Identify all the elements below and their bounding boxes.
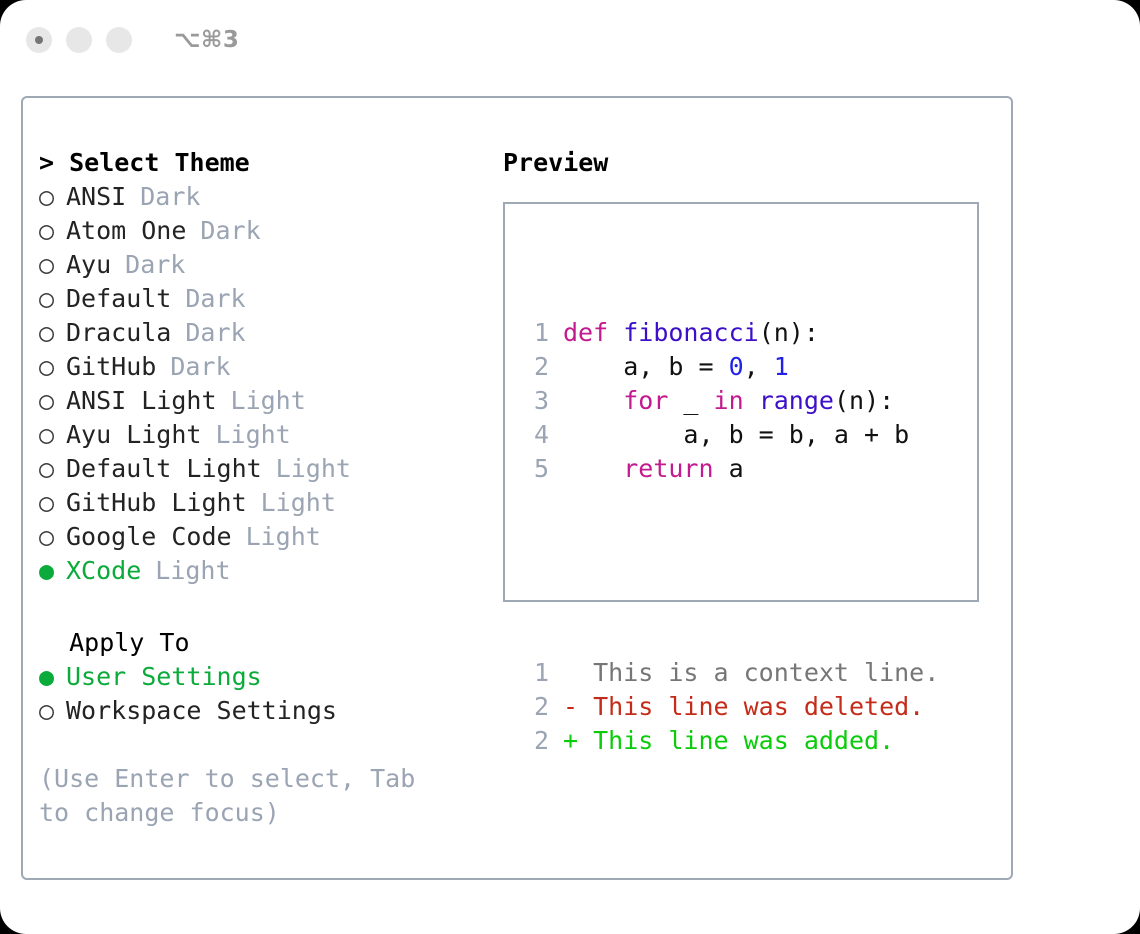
app-window: ⌥⌘3 > Select Theme ○ANSIDark○Atom OneDar… — [0, 0, 1140, 934]
code-line: 1def fibonacci(n): — [519, 316, 939, 350]
radio-unselected-icon: ○ — [39, 282, 66, 316]
line-number: 2 — [519, 690, 549, 724]
theme-variant-badge: Dark — [185, 282, 245, 316]
code-token-fn: range — [759, 386, 834, 415]
radio-unselected-icon: ○ — [39, 694, 66, 728]
code-token-plain: (n): — [834, 386, 894, 415]
keyboard-hint: (Use Enter to select, Tab to change focu… — [39, 762, 439, 830]
line-number: 2 — [519, 350, 549, 384]
radio-unselected-icon: ○ — [39, 180, 66, 214]
theme-variant-badge: Light — [246, 520, 321, 554]
theme-option-default-light[interactable]: ○Default LightLight — [39, 452, 489, 486]
theme-option-label: Default Light — [66, 452, 262, 486]
keyboard-shortcut-label: ⌥⌘3 — [174, 27, 239, 53]
theme-variant-badge: Light — [231, 384, 306, 418]
theme-option-google-code[interactable]: ○Google CodeLight — [39, 520, 489, 554]
radio-unselected-icon: ○ — [39, 384, 66, 418]
diff-marker: + — [563, 724, 593, 758]
diff-line-text: This line was deleted. — [593, 690, 924, 724]
code-line: 3 for _ in range(n): — [519, 384, 939, 418]
window-dot-active-indicator — [35, 36, 43, 44]
line-number: 5 — [519, 452, 549, 486]
code-token-num: 0 — [729, 352, 744, 381]
theme-option-ayu[interactable]: ○AyuDark — [39, 248, 489, 282]
code-token-plain: (n): — [759, 318, 819, 347]
theme-option-label: ANSI Light — [66, 384, 217, 418]
code-line-content: return a — [563, 452, 744, 486]
code-token-plain — [744, 386, 759, 415]
window-dot-second[interactable] — [66, 27, 92, 53]
window-dot-third[interactable] — [106, 27, 132, 53]
apply-option-label: Workspace Settings — [66, 694, 337, 728]
theme-option-ansi[interactable]: ○ANSIDark — [39, 180, 489, 214]
theme-option-label: Google Code — [66, 520, 232, 554]
apply-option-workspace-settings[interactable]: ○Workspace Settings — [39, 694, 489, 728]
code-line-content: def fibonacci(n): — [563, 316, 819, 350]
theme-option-label: Dracula — [66, 316, 171, 350]
theme-variant-badge: Light — [155, 554, 230, 588]
theme-option-dracula[interactable]: ○DraculaDark — [39, 316, 489, 350]
radio-unselected-icon: ○ — [39, 486, 66, 520]
diff-line-text: This line was added. — [593, 724, 894, 758]
radio-unselected-icon: ○ — [39, 350, 66, 384]
theme-option-default[interactable]: ○DefaultDark — [39, 282, 489, 316]
radio-selected-icon: ● — [39, 554, 66, 588]
preview-code: 1def fibonacci(n):2 a, b = 0, 13 for _ i… — [519, 248, 939, 826]
theme-option-label: GitHub Light — [66, 486, 247, 520]
code-line: 2 a, b = 0, 1 — [519, 350, 939, 384]
theme-option-label: Ayu — [66, 248, 111, 282]
code-token-kw: def — [563, 318, 623, 347]
line-number: 1 — [519, 656, 549, 690]
theme-option-label: GitHub — [66, 350, 156, 384]
theme-variant-badge: Dark — [125, 248, 185, 282]
radio-unselected-icon: ○ — [39, 418, 66, 452]
code-token-plain: _ — [668, 386, 713, 415]
apply-option-label: User Settings — [66, 660, 262, 694]
line-number: 4 — [519, 418, 549, 452]
theme-selector-column: > Select Theme ○ANSIDark○Atom OneDark○Ay… — [39, 146, 489, 830]
code-token-kw: in — [714, 386, 744, 415]
theme-variant-badge: Dark — [170, 350, 230, 384]
theme-variant-badge: Dark — [200, 214, 260, 248]
theme-list: ○ANSIDark○Atom OneDark○AyuDark○DefaultDa… — [39, 180, 489, 588]
theme-option-label: Atom One — [66, 214, 186, 248]
theme-option-ansi-light[interactable]: ○ANSI LightLight — [39, 384, 489, 418]
diff-line-del: 2- This line was deleted. — [519, 690, 939, 724]
code-token-plain: a, b = — [563, 352, 729, 381]
theme-option-label: ANSI — [66, 180, 126, 214]
theme-option-xcode[interactable]: ●XCodeLight — [39, 554, 489, 588]
radio-unselected-icon: ○ — [39, 214, 66, 248]
line-number: 1 — [519, 316, 549, 350]
preview-heading: Preview — [503, 146, 993, 180]
code-token-plain — [563, 386, 623, 415]
theme-option-label: Ayu Light — [66, 418, 201, 452]
code-token-num: 1 — [774, 352, 789, 381]
code-token-plain: , — [744, 352, 774, 381]
diff-marker — [563, 656, 593, 690]
radio-unselected-icon: ○ — [39, 248, 66, 282]
theme-variant-badge: Light — [215, 418, 290, 452]
radio-unselected-icon: ○ — [39, 316, 66, 350]
code-token-plain: a — [714, 454, 744, 483]
code-line: 5 return a — [519, 452, 939, 486]
code-line: 4 a, b = b, a + b — [519, 418, 939, 452]
radio-unselected-icon: ○ — [39, 452, 66, 486]
theme-variant-badge: Dark — [185, 316, 245, 350]
theme-variant-badge: Dark — [140, 180, 200, 214]
code-sample: 1def fibonacci(n):2 a, b = 0, 13 for _ i… — [519, 316, 939, 486]
theme-option-label: Default — [66, 282, 171, 316]
line-number: 3 — [519, 384, 549, 418]
diff-sample: 1 This is a context line.2- This line wa… — [519, 656, 939, 758]
diff-line-add: 2+ This line was added. — [519, 724, 939, 758]
window-controls — [26, 27, 132, 53]
diff-marker: - — [563, 690, 593, 724]
code-token-plain — [563, 454, 623, 483]
apply-option-user-settings[interactable]: ●User Settings — [39, 660, 489, 694]
diff-line-text: This is a context line. — [593, 656, 939, 690]
radio-unselected-icon: ○ — [39, 520, 66, 554]
apply-to-list: ●User Settings○Workspace Settings — [39, 660, 489, 728]
code-token-plain: a, b = b, a + b — [563, 420, 909, 449]
code-token-fn: fibonacci — [623, 318, 758, 347]
title-bar: ⌥⌘3 — [0, 0, 1140, 80]
theme-option-github[interactable]: ○GitHubDark — [39, 350, 489, 384]
code-line-content: for _ in range(n): — [563, 384, 894, 418]
select-theme-heading: > Select Theme — [39, 146, 489, 180]
code-line-content: a, b = b, a + b — [563, 418, 909, 452]
code-token-kw: for — [623, 386, 668, 415]
preview-box: 1def fibonacci(n):2 a, b = 0, 13 for _ i… — [503, 202, 979, 602]
preview-column: Preview 1def fibonacci(n):2 a, b = 0, 13… — [503, 146, 993, 602]
code-token-kw: return — [623, 454, 713, 483]
code-line-content: a, b = 0, 1 — [563, 350, 789, 384]
theme-variant-badge: Light — [261, 486, 336, 520]
radio-selected-icon: ● — [39, 660, 66, 694]
theme-variant-badge: Light — [276, 452, 351, 486]
window-dot-active[interactable] — [26, 27, 52, 53]
line-number: 2 — [519, 724, 549, 758]
theme-option-atom-one[interactable]: ○Atom OneDark — [39, 214, 489, 248]
theme-option-ayu-light[interactable]: ○Ayu LightLight — [39, 418, 489, 452]
apply-to-heading: Apply To — [39, 626, 489, 660]
diff-line-ctx: 1 This is a context line. — [519, 656, 939, 690]
theme-option-label: XCode — [66, 554, 141, 588]
theme-option-github-light[interactable]: ○GitHub LightLight — [39, 486, 489, 520]
main-panel: > Select Theme ○ANSIDark○Atom OneDark○Ay… — [21, 96, 1013, 880]
